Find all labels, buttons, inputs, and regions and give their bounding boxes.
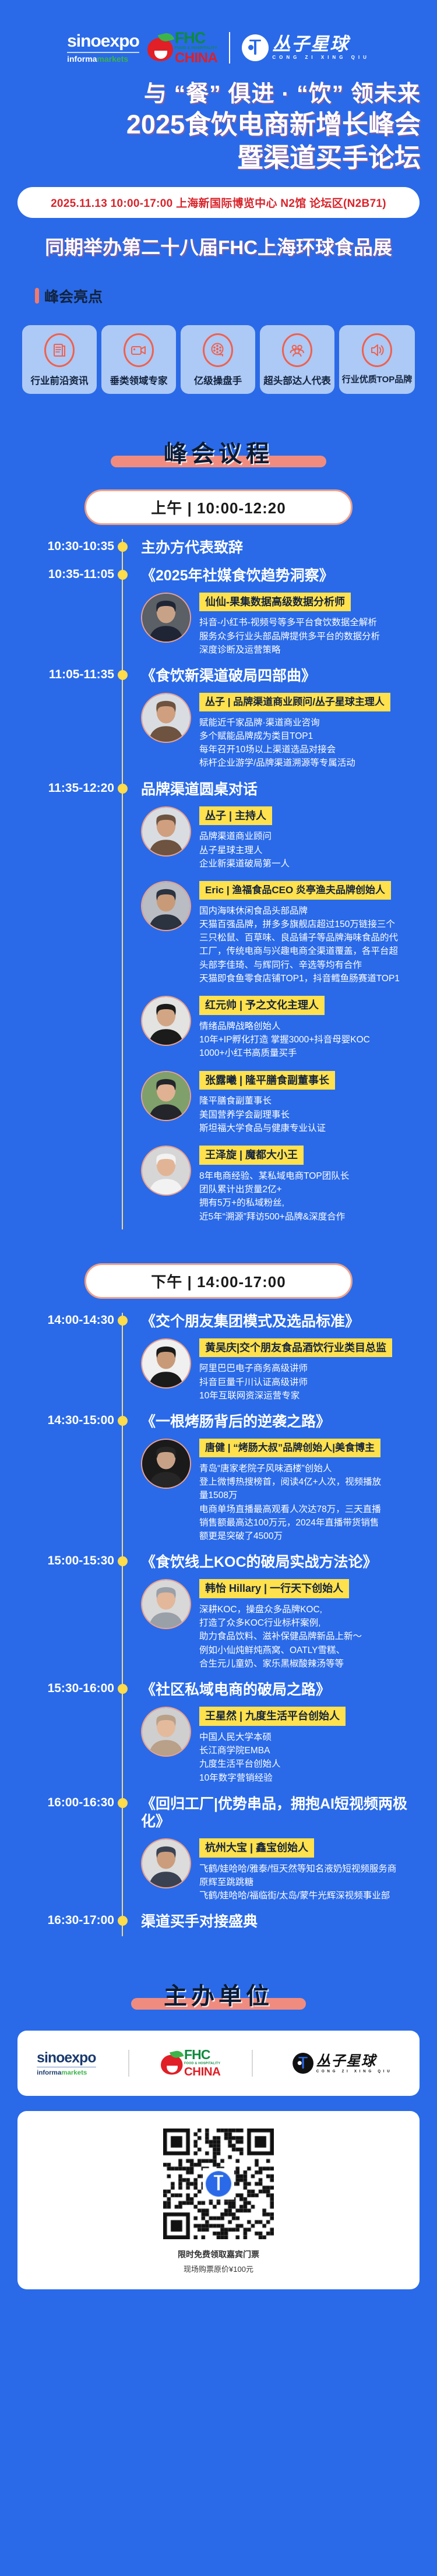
speaker-bio-line: 飞鹤/娃哈哈/雅泰/恒天然等知名液奶短视频服务商 — [199, 1862, 427, 1876]
speaker-name-badge: 黄吴庆|交个朋友食品酒饮行业类目总监 — [199, 1338, 392, 1358]
speaker-bio-line: 1000+小红书高质量买手 — [199, 1046, 427, 1060]
timeline-dot-icon — [118, 1316, 128, 1326]
speaker-bio-line: 天猫百强品牌，拼多多旗舰店超过150万链接三个 — [199, 918, 427, 931]
speaker-bio-line: 抖音巨量千川认证高级讲师 — [199, 1376, 427, 1389]
speaker-bio-line: 品牌渠道商业顾问 — [199, 830, 427, 843]
speaker-name-badge: 杭州大宝 | 鑫宝创始人 — [199, 1838, 314, 1858]
agenda-item: 14:00-14:30《交个朋友集团模式及选品标准》黄吴庆|交个朋友食品酒饮行业… — [0, 1313, 437, 1402]
qr-code-image[interactable] — [163, 2129, 274, 2239]
speaker-bio-line: 头部李佳琦、与辉同行、辛选等均有合作 — [199, 958, 427, 972]
speaker-bio-line: 三只松鼠、百草味、良品铺子等品牌海味食品的代 — [199, 931, 427, 945]
agenda-item-time: 11:05-11:35 — [0, 667, 114, 682]
organizer-fhc-wordmark: FHC — [184, 2048, 210, 2063]
agenda-item-title: 《交个朋友集团模式及选品标准》 — [141, 1313, 427, 1330]
agenda-item-body: 《食饮线上KOC的破局实战方法论》韩怡 Hillary | 一行天下创始人深耕K… — [141, 1553, 437, 1671]
organizer-logo-congzi: 丛子星球 CONG ZI XING QIU — [292, 2053, 392, 2074]
highlight-label-0: 行业前沿资讯 — [31, 373, 89, 387]
morning-period-badge: 上午 | 10:00-12:20 — [84, 489, 353, 525]
speaker-block: Eric | 渔福食品CEO 炎亭渔夫品牌创始人国内海味休闲食品头部品牌天猫百强… — [141, 881, 427, 985]
sinoexpo-logo: sinoexpo informamarkets — [67, 33, 139, 63]
speaker-bio-line: 10年互联网资深运营专家 — [199, 1389, 427, 1402]
speaker-bio-line: 天猫即食鱼零食店铺TOP1，抖音鳕鱼肠赛道TOP1 — [199, 972, 427, 985]
speaker-block: 杭州大宝 | 鑫宝创始人飞鹤/娃哈哈/雅泰/恒天然等知名液奶短视频服务商原辉至跳… — [141, 1838, 427, 1902]
speaker-bio: 国内海味休闲食品头部品牌天猫百强品牌，拼多多旗舰店超过150万链接三个三只松鼠、… — [199, 904, 427, 986]
highlight-card-2[interactable]: 亿级操盘手 — [181, 325, 255, 394]
speaker-bio-line: 多个赋能品牌成为类目TOP1 — [199, 730, 427, 743]
film-reel-icon — [203, 333, 233, 367]
speaker-info: 丛子 | 品牌渠道商业顾问/丛子星球主理人赋能近千家品牌·渠道商业咨询多个赋能品… — [199, 693, 427, 770]
organizer-sinoexpo-wordmark: sinoexpo — [37, 2050, 96, 2066]
label-accent-bar — [35, 288, 39, 304]
speaker-bio-line: 登上微博热搜榜首，阅读4亿+人次，视频播放 — [199, 1475, 427, 1489]
speaker-bio-line: 工厂，传统电商与兴趣电商全渠道覆盖，各平台超 — [199, 945, 427, 958]
avatar — [141, 1071, 191, 1121]
agenda-item-body: 《一根烤肠背后的逆袭之路》唐健 | “烤肠大叔”品牌创始人|美食博主青岛“唐家老… — [141, 1413, 437, 1543]
speaker-bio: 隆平膳食副董事长美国营养学会副理事长斯坦福大学食品与健康专业认证 — [199, 1094, 427, 1135]
speaker-bio: 抖音-小红书-视频号等多平台食饮数据全解析服务众多行业头部品牌提供多平台的数据分… — [199, 616, 427, 657]
speaker-bio: 中国人民大学本硕长江商学院EMBA九度生活平台创始人10年数字营销经验 — [199, 1731, 427, 1785]
avatar — [141, 693, 191, 743]
organizer-divider — [252, 2050, 253, 2077]
speaker-bio: 深耕KOC，操盘众多品牌KOC,打造了众多KOC行业标杆案例,助力食品饮料、滋补… — [199, 1603, 427, 1671]
agenda-item-title: 品牌渠道圆桌对话 — [141, 781, 427, 798]
speaker-bio-line: 飞鹤/娃哈哈/福临街/太岛/蒙牛光辉深视频事业部 — [199, 1889, 427, 1902]
timeline-dot-icon — [118, 670, 128, 680]
agenda-title-block: 峰会议程 — [0, 435, 437, 468]
agenda-item-title: 《食饮线上KOC的破局实战方法论》 — [141, 1553, 427, 1571]
avatar — [141, 996, 191, 1046]
fhc-wordmark: FHC — [175, 29, 206, 47]
agenda-item: 16:00-16:30《回归工厂|优势串品，拥抱AI短视频两极化》杭州大宝 | … — [0, 1795, 437, 1902]
agenda-item-title: 《社区私域电商的破局之路》 — [141, 1681, 427, 1698]
speaker-name-badge: Eric | 渔福食品CEO 炎亭渔夫品牌创始人 — [199, 881, 391, 900]
people-group-icon — [282, 333, 312, 367]
speaker-info: 王星然 | 九度生活平台创始人中国人民大学本硕长江商学院EMBA九度生活平台创始… — [199, 1707, 427, 1785]
speaker-bio-line: 10年+IP孵化打造 掌握3000+抖音母婴KOC — [199, 1033, 427, 1046]
agenda-item: 15:00-15:30《食饮线上KOC的破局实战方法论》韩怡 Hillary |… — [0, 1553, 437, 1671]
avatar — [141, 1579, 191, 1629]
speaker-bio: 阿里巴巴电子商务高级讲师抖音巨量千川认证高级讲师10年互联网资深运营专家 — [199, 1362, 427, 1402]
speaker-name-badge: 丛子 | 品牌渠道商业顾问/丛子星球主理人 — [199, 693, 390, 711]
agenda-title-text: 峰会议程 — [0, 435, 437, 468]
co-event-line: 同期举办第二十八届FHC上海环球食品展 — [0, 232, 437, 260]
agenda-item: 14:30-15:00《一根烤肠背后的逆袭之路》唐健 | “烤肠大叔”品牌创始人… — [0, 1413, 437, 1543]
speaker-bio-line: 原辉至跳跳糖 — [199, 1876, 427, 1889]
speaker-bio-line: 8年电商经验、某私域电商TOP团队长 — [199, 1169, 427, 1183]
speaker-bio-line: 美国营养学会副理事长 — [199, 1108, 427, 1122]
speaker-block: 唐健 | “烤肠大叔”品牌创始人|美食博主青岛“唐家老院子风味酒楼”创始人登上微… — [141, 1439, 427, 1543]
timeline-dot-icon — [118, 1684, 128, 1694]
agenda-item-body: 《回归工厂|优势串品，拥抱AI短视频两极化》杭州大宝 | 鑫宝创始人飞鹤/娃哈哈… — [141, 1795, 437, 1902]
highlight-label-3: 超头部达人代表 — [263, 373, 331, 387]
agenda-item-time: 10:30-10:35 — [0, 539, 114, 554]
highlight-card-1[interactable]: 垂类领域专家 — [101, 325, 176, 394]
speaker-bio-line: 深度诊断及运营策略 — [199, 643, 427, 657]
poster-page: sinoexpo informamarkets FHC FOOD & HOSPI… — [0, 0, 437, 2576]
highlight-card-4[interactable]: 行业优质TOP品牌 — [339, 325, 415, 394]
timeline-dot-icon — [118, 1556, 128, 1566]
agenda-item-body: 《社区私域电商的破局之路》王星然 | 九度生活平台创始人中国人民大学本硕长江商学… — [141, 1681, 437, 1785]
informa-wordmark: informa — [67, 54, 97, 64]
speaker-bio-line: 九度生活平台创始人 — [199, 1757, 427, 1771]
agenda-item: 10:35-11:05《2025年社媒食饮趋势洞察》仙仙-果集数据高级数据分析师… — [0, 567, 437, 657]
timeline-dot-icon — [118, 784, 128, 794]
agenda-item-time: 15:30-16:00 — [0, 1681, 114, 1696]
apple-icon — [161, 2052, 182, 2075]
speaker-bio-line: 合生元儿童奶、家乐黑椒酸辣汤等等 — [199, 1657, 427, 1671]
afternoon-period-text: 下午 | 14:00-17:00 — [151, 1273, 286, 1291]
agenda-item: 16:30-17:00渠道买手对接盛典 — [0, 1913, 437, 1930]
speaker-bio-line: 近5年“溯源”拜访500+品牌&深度合作 — [199, 1210, 427, 1224]
organizer-logo-fhc: FHC FOOD & HOSPITALITY CHINA — [161, 2049, 220, 2078]
speaker-name-badge: 红元帅 | 予之文化主理人 — [199, 996, 325, 1015]
speaker-bio-line: 助力食品饮料、滋补保健品牌新品上新～ — [199, 1630, 427, 1643]
organizer-markets-wordmark: markets — [61, 2068, 87, 2076]
highlights-label-text: 峰会亮点 — [44, 286, 103, 306]
agenda-item-body: 主办方代表致辞 — [141, 539, 437, 556]
speaker-bio: 8年电商经验、某私域电商TOP团队长团队累计出货量2亿+拥有5万+的私域粉丝,近… — [199, 1169, 427, 1224]
agenda-item-body: 《食饮新渠道破局四部曲》丛子 | 品牌渠道商业顾问/丛子星球主理人赋能近千家品牌… — [141, 667, 437, 770]
speaker-block: 黄吴庆|交个朋友食品酒饮行业类目总监阿里巴巴电子商务高级讲师抖音巨量千川认证高级… — [141, 1338, 427, 1402]
speaker-name-badge: 仙仙-果集数据高级数据分析师 — [199, 593, 351, 612]
speaker-block: 丛子 | 品牌渠道商业顾问/丛子星球主理人赋能近千家品牌·渠道商业咨询多个赋能品… — [141, 693, 427, 770]
speaker-info: 王泽旋 | 魔都大小王8年电商经验、某私域电商TOP团队长团队累计出货量2亿+拥… — [199, 1146, 427, 1224]
avatar — [141, 881, 191, 931]
speaker-bio-line: 量1508万 — [199, 1489, 427, 1502]
speaker-name-badge: 张露曦 | 隆平膳食副董事长 — [199, 1071, 335, 1090]
agenda-item-title: 主办方代表致辞 — [141, 539, 427, 556]
speaker-bio-line: 隆平膳食副董事长 — [199, 1094, 427, 1108]
speaker-name-badge: 唐健 | “烤肠大叔”品牌创始人|美食博主 — [199, 1439, 380, 1457]
morning-period-text: 上午 | 10:00-12:20 — [151, 499, 286, 517]
hero-slogan: 与 “餐” 俱进 · “饮” 领未来 — [16, 80, 421, 109]
speaker-info: Eric | 渔福食品CEO 炎亭渔夫品牌创始人国内海味休闲食品头部品牌天猫百强… — [199, 881, 427, 985]
timeline-dot-icon — [118, 1916, 128, 1926]
speaker-icon — [362, 333, 392, 367]
agenda-item-time: 15:00-15:30 — [0, 1553, 114, 1568]
organizer-informa-wordmark: informa — [37, 2068, 61, 2076]
agenda-item-body: 品牌渠道圆桌对话丛子 | 主持人品牌渠道商业顾问丛子星球主理人企业新渠道破局第一… — [141, 781, 437, 1224]
sinoexpo-wordmark: sinoexpo — [67, 31, 139, 51]
speaker-block: 仙仙-果集数据高级数据分析师抖音-小红书-视频号等多平台食饮数据全解析服务众多行… — [141, 593, 427, 657]
avatar — [141, 593, 191, 643]
speaker-bio-line: 销售额最高达100万元，2024年直播带货销售 — [199, 1516, 427, 1530]
agenda-item: 11:05-11:35《食饮新渠道破局四部曲》丛子 | 品牌渠道商业顾问/丛子星… — [0, 667, 437, 770]
agenda-item-body: 渠道买手对接盛典 — [141, 1913, 437, 1930]
timeline-dot-icon — [118, 570, 128, 580]
avatar — [141, 806, 191, 857]
logo-divider-rule — [67, 52, 139, 53]
speaker-bio-line: 拥有5万+的私域粉丝, — [199, 1196, 427, 1210]
speaker-info: 黄吴庆|交个朋友食品酒饮行业类目总监阿里巴巴电子商务高级讲师抖音巨量千川认证高级… — [199, 1338, 427, 1402]
speaker-bio-line: 阿里巴巴电子商务高级讲师 — [199, 1362, 427, 1375]
hero-sub-title: 暨渠道买手论坛 — [16, 142, 421, 174]
date-venue-badge: 2025.11.13 10:00-17:00 上海新国际博览中心 N2馆 论坛区… — [17, 187, 420, 218]
speaker-bio-line: 打造了众多KOC行业标杆案例, — [199, 1616, 427, 1630]
speaker-info: 张露曦 | 隆平膳食副董事长隆平膳食副董事长美国营养学会副理事长斯坦福大学食品与… — [199, 1071, 427, 1135]
highlight-label-2: 亿级操盘手 — [194, 373, 242, 387]
markets-wordmark: markets — [97, 54, 128, 64]
organizer-congzi-wordmark: 丛子星球 — [316, 2053, 376, 2068]
organizer-congzi-pinyin: CONG ZI XING QIU — [316, 2070, 393, 2073]
qr-note-primary: 限时免费领取嘉宾门票 — [178, 2249, 259, 2260]
highlight-label-1: 垂类领域专家 — [110, 373, 168, 387]
speaker-bio-line: 额更是突破了4500万 — [199, 1530, 427, 1543]
speaker-bio-line: 情绪品牌战略创始人 — [199, 1020, 427, 1033]
agenda-item-time: 10:35-11:05 — [0, 567, 114, 582]
organizers-title-text: 主办单位 — [0, 1977, 437, 2011]
speaker-bio: 飞鹤/娃哈哈/雅泰/恒天然等知名液奶短视频服务商原辉至跳跳糖飞鹤/娃哈哈/福临街… — [199, 1862, 427, 1903]
speaker-bio-line: 深耕KOC，操盘众多品牌KOC, — [199, 1603, 427, 1616]
organizer-divider — [128, 2050, 129, 2077]
organizer-logo-sinoexpo: sinoexpo informamarkets — [37, 2051, 96, 2076]
fhc-logo: FHC FOOD & HOSPITALITY CHINA — [147, 30, 218, 65]
apple-icon — [147, 34, 173, 61]
timeline-dot-icon — [118, 1798, 128, 1808]
video-camera-icon — [124, 333, 154, 367]
qr-ticket-card: 限时免费领取嘉宾门票 现场购票原价¥100元 — [17, 2111, 420, 2289]
speaker-name-badge: 王泽旋 | 魔都大小王 — [199, 1146, 304, 1165]
avatar — [141, 1838, 191, 1888]
speaker-name-badge: 丛子 | 主持人 — [199, 806, 272, 826]
speaker-bio-line: 国内海味休闲食品头部品牌 — [199, 904, 427, 918]
agenda-item-body: 《交个朋友集团模式及选品标准》黄吴庆|交个朋友食品酒饮行业类目总监阿里巴巴电子商… — [141, 1313, 437, 1402]
speaker-bio-line: 每年召开10场以上渠道选品对接会 — [199, 743, 427, 756]
speaker-block: 丛子 | 主持人品牌渠道商业顾问丛子星球主理人企业新渠道破局第一人 — [141, 806, 427, 871]
speaker-info: 唐健 | “烤肠大叔”品牌创始人|美食博主青岛“唐家老院子风味酒楼”创始人登上微… — [199, 1439, 427, 1543]
speaker-bio-line: 赋能近千家品牌·渠道商业咨询 — [199, 716, 427, 730]
hero-main-title: 2025食饮电商新增长峰会 — [16, 108, 421, 141]
fhc-china-wordmark: CHINA — [175, 51, 218, 65]
speaker-bio-line: 丛子星球主理人 — [199, 844, 427, 857]
morning-timeline: 10:30-10:35主办方代表致辞10:35-11:05《2025年社媒食饮趋… — [0, 539, 437, 1229]
speaker-block: 韩怡 Hillary | 一行天下创始人深耕KOC，操盘众多品牌KOC,打造了众… — [141, 1579, 427, 1671]
avatar — [141, 1338, 191, 1389]
agenda-item-body: 《2025年社媒食饮趋势洞察》仙仙-果集数据高级数据分析师抖音-小红书-视频号等… — [141, 567, 437, 657]
speaker-bio: 品牌渠道商业顾问丛子星球主理人企业新渠道破局第一人 — [199, 830, 427, 871]
agenda-item: 15:30-16:00《社区私域电商的破局之路》王星然 | 九度生活平台创始人中… — [0, 1681, 437, 1785]
agenda-item-time: 14:00-14:30 — [0, 1313, 114, 1327]
speaker-info: 韩怡 Hillary | 一行天下创始人深耕KOC，操盘众多品牌KOC,打造了众… — [199, 1579, 427, 1671]
speaker-name-badge: 韩怡 Hillary | 一行天下创始人 — [199, 1579, 349, 1598]
speaker-bio: 情绪品牌战略创始人10年+IP孵化打造 掌握3000+抖音母婴KOC1000+小… — [199, 1020, 427, 1060]
organizers-logo-card: sinoexpo informamarkets FHC FOOD & HOSPI… — [17, 2031, 420, 2096]
speaker-block: 王星然 | 九度生活平台创始人中国人民大学本硕长江商学院EMBA九度生活平台创始… — [141, 1707, 427, 1785]
speaker-info: 红元帅 | 予之文化主理人情绪品牌战略创始人10年+IP孵化打造 掌握3000+… — [199, 996, 427, 1060]
speaker-bio-line: 中国人民大学本硕 — [199, 1731, 427, 1744]
speaker-bio-line: 10年数字营销经验 — [199, 1771, 427, 1785]
hero-section: 与 “餐” 俱进 · “饮” 领未来 2025食饮电商新增长峰会 暨渠道买手论坛 — [0, 65, 437, 174]
speaker-bio-line: 抖音-小红书-视频号等多平台食饮数据全解析 — [199, 616, 427, 629]
afternoon-timeline: 14:00-14:30《交个朋友集团模式及选品标准》黄吴庆|交个朋友食品酒饮行业… — [0, 1313, 437, 1937]
agenda-item-time: 16:30-17:00 — [0, 1913, 114, 1927]
speaker-block: 张露曦 | 隆平膳食副董事长隆平膳食副董事长美国营养学会副理事长斯坦福大学食品与… — [141, 1071, 427, 1135]
top-logo-bar: sinoexpo informamarkets FHC FOOD & HOSPI… — [0, 0, 437, 65]
speaker-info: 丛子 | 主持人品牌渠道商业顾问丛子星球主理人企业新渠道破局第一人 — [199, 806, 427, 871]
agenda-item-title: 《2025年社媒食饮趋势洞察》 — [141, 567, 427, 584]
agenda-item-time: 16:00-16:30 — [0, 1795, 114, 1810]
timeline-dot-icon — [118, 542, 128, 552]
speaker-bio-line: 服务众多行业头部品牌提供多平台的数据分析 — [199, 630, 427, 643]
speaker-bio-line: 电商单场直播最高观看人次达78万，三天直播 — [199, 1503, 427, 1516]
agenda-item-time: 14:30-15:00 — [0, 1413, 114, 1428]
congzi-mark-icon — [242, 34, 269, 61]
document-icon — [44, 333, 75, 367]
speaker-info: 仙仙-果集数据高级数据分析师抖音-小红书-视频号等多平台食饮数据全解析服务众多行… — [199, 593, 427, 657]
speaker-bio-line: 青岛“唐家老院子风味酒楼”创始人 — [199, 1462, 427, 1475]
speaker-block: 王泽旋 | 魔都大小王8年电商经验、某私域电商TOP团队长团队累计出货量2亿+拥… — [141, 1146, 427, 1224]
speaker-name-badge: 王星然 | 九度生活平台创始人 — [199, 1707, 346, 1726]
organizers-title-block: 主办单位 — [0, 1977, 437, 2011]
congzi-pinyin: CONG ZI XING QIU — [272, 55, 370, 60]
speaker-bio-line: 长江商学院EMBA — [199, 1744, 427, 1757]
speaker-bio-line: 例如小仙炖鲜炖燕窝、OATLY雪糕、 — [199, 1644, 427, 1657]
highlight-label-4: 行业优质TOP品牌 — [342, 373, 413, 385]
speaker-block: 红元帅 | 予之文化主理人情绪品牌战略创始人10年+IP孵化打造 掌握3000+… — [141, 996, 427, 1060]
congzi-logo: 丛子星球 CONG ZI XING QIU — [242, 34, 370, 61]
avatar — [141, 1707, 191, 1757]
agenda-item-title: 《食饮新渠道破局四部曲》 — [141, 667, 427, 685]
agenda-item-title: 《回归工厂|优势串品，拥抱AI短视频两极化》 — [141, 1795, 427, 1830]
speaker-bio: 青岛“唐家老院子风味酒楼”创始人登上微博热搜榜首，阅读4亿+人次，视频播放量15… — [199, 1462, 427, 1544]
avatar — [141, 1146, 191, 1196]
agenda-item-title: 《一根烤肠背后的逆袭之路》 — [141, 1413, 427, 1430]
congzi-wordmark: 丛子星球 — [272, 34, 349, 54]
agenda-item-time: 11:35-12:20 — [0, 781, 114, 795]
highlight-card-3[interactable]: 超头部达人代表 — [260, 325, 334, 394]
timeline-dot-icon — [118, 1416, 128, 1426]
highlights-section-label: 峰会亮点 — [35, 286, 437, 306]
highlights-row: 行业前沿资讯 垂类领域专家 亿级操盘手 超头部达人代表 行业优质TOP品牌 — [0, 325, 437, 394]
speaker-bio-line: 斯坦福大学食品与健康专业认证 — [199, 1122, 427, 1135]
speaker-bio: 赋能近千家品牌·渠道商业咨询多个赋能品牌成为类目TOP1每年召开10场以上渠道选… — [199, 716, 427, 770]
agenda-item-title: 渠道买手对接盛典 — [141, 1913, 427, 1930]
avatar — [141, 1439, 191, 1489]
speaker-bio-line: 标杆企业游学/品牌渠道溯源等专属活动 — [199, 756, 427, 770]
agenda-item: 11:35-12:20品牌渠道圆桌对话丛子 | 主持人品牌渠道商业顾问丛子星球主… — [0, 781, 437, 1224]
congzi-mark-icon — [292, 2053, 313, 2074]
agenda-item: 10:30-10:35主办方代表致辞 — [0, 539, 437, 556]
logo-separator — [229, 32, 230, 64]
organizer-fhc-china-wordmark: CHINA — [184, 2066, 220, 2078]
speaker-bio-line: 企业新渠道破局第一人 — [199, 857, 427, 871]
afternoon-period-badge: 下午 | 14:00-17:00 — [84, 1263, 353, 1299]
highlight-card-0[interactable]: 行业前沿资讯 — [22, 325, 97, 394]
qr-note-secondary: 现场购票原价¥100元 — [178, 2263, 259, 2274]
date-venue-text: 2025.11.13 10:00-17:00 上海新国际博览中心 N2馆 论坛区… — [51, 198, 386, 210]
speaker-info: 杭州大宝 | 鑫宝创始人飞鹤/娃哈哈/雅泰/恒天然等知名液奶短视频服务商原辉至跳… — [199, 1838, 427, 1902]
speaker-bio-line: 团队累计出货量2亿+ — [199, 1183, 427, 1196]
